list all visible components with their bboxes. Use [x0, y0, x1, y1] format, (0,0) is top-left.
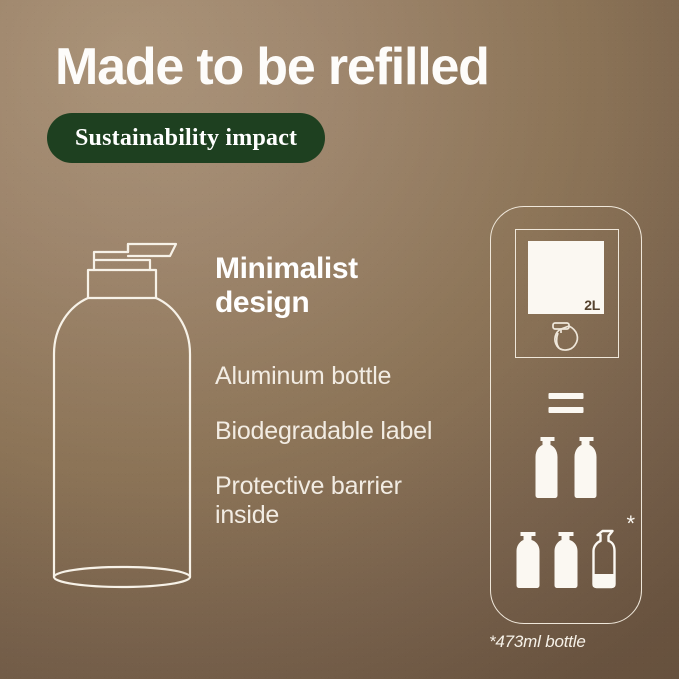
feature-item-protective-barrier: Protective barrier inside — [215, 472, 445, 530]
feature-item-aluminum-bottle: Aluminum bottle — [215, 362, 445, 391]
bottle-icon-small — [513, 529, 544, 589]
equals-symbol — [549, 393, 584, 413]
status-badge: Sustainability impact — [47, 113, 325, 163]
refill-pouch-graphic: 2L — [528, 241, 604, 314]
bottle-icon-large — [532, 433, 562, 499]
refill-pouch-frame: 2L — [515, 229, 619, 358]
feature-heading: Minimalist design — [215, 252, 425, 320]
equals-bar-bottom — [549, 407, 584, 413]
footnote-text: *473ml bottle — [489, 632, 659, 652]
pouch-spout-icon — [549, 322, 585, 354]
bottle-icon-small-outline — [589, 529, 620, 589]
feature-list: Aluminum bottle Biodegradable label Prot… — [215, 362, 445, 530]
page-title: Made to be refilled — [55, 38, 615, 96]
refill-pouch-volume-label: 2L — [584, 297, 600, 313]
promo-canvas: Made to be refilled Sustainability impac… — [0, 0, 679, 679]
refill-equivalence-panel: 2L — [490, 206, 642, 624]
asterisk-marker: * — [626, 517, 635, 531]
bottle-icon-large — [571, 433, 601, 499]
bottle-row-small — [513, 529, 620, 589]
bottle-row-large — [532, 433, 601, 499]
bottle-icon-small — [551, 529, 582, 589]
feature-item-biodegradable-label: Biodegradable label — [215, 417, 445, 446]
equals-bar-top — [549, 393, 584, 399]
status-badge-label: Sustainability impact — [75, 125, 297, 152]
pump-bottle-illustration — [42, 222, 202, 600]
